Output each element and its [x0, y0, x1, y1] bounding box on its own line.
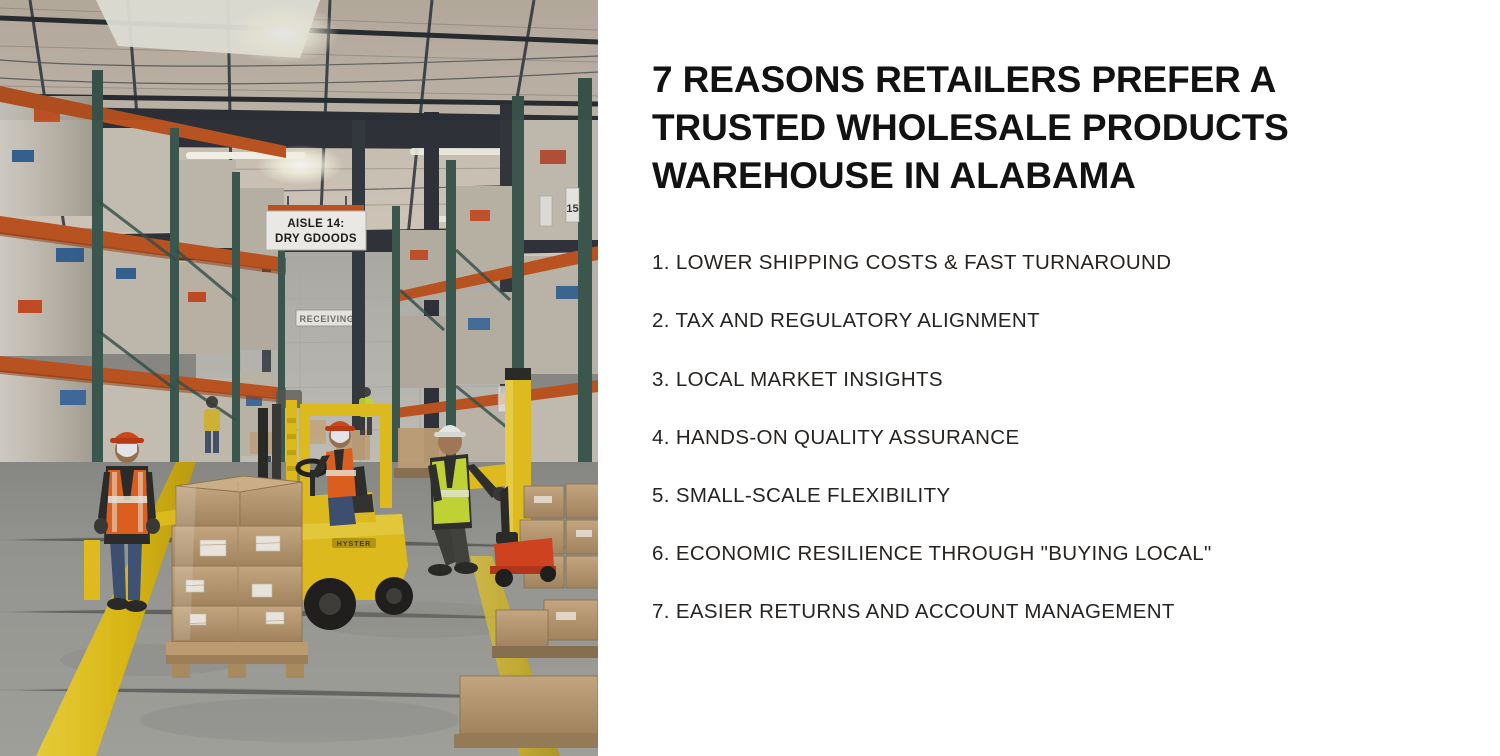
slide-root: RECEIVING	[0, 0, 1500, 756]
reasons-list: 1. LOWER SHIPPING COSTS & FAST TURNAROUN…	[652, 240, 1440, 635]
list-item: 5. SMALL-SCALE FLEXIBILITY	[652, 473, 1440, 520]
warehouse-scene-illustration: RECEIVING	[0, 0, 598, 756]
page-title: 7 REASONS RETAILERS PREFER A TRUSTED WHO…	[652, 56, 1440, 200]
list-item: 4. HANDS-ON QUALITY ASSURANCE	[652, 415, 1440, 462]
list-item: 1. LOWER SHIPPING COSTS & FAST TURNAROUN…	[652, 240, 1440, 287]
list-item: 2. TAX AND REGULATORY ALIGNMENT	[652, 298, 1440, 345]
list-item: 3. LOCAL MARKET INSIGHTS	[652, 357, 1440, 404]
list-item: 6. ECONOMIC RESILIENCE THROUGH "BUYING L…	[652, 531, 1440, 578]
warehouse-photo: RECEIVING	[0, 0, 598, 756]
text-panel: 7 REASONS RETAILERS PREFER A TRUSTED WHO…	[598, 0, 1500, 756]
list-item: 7. EASIER RETURNS AND ACCOUNT MANAGEMENT	[652, 589, 1440, 636]
